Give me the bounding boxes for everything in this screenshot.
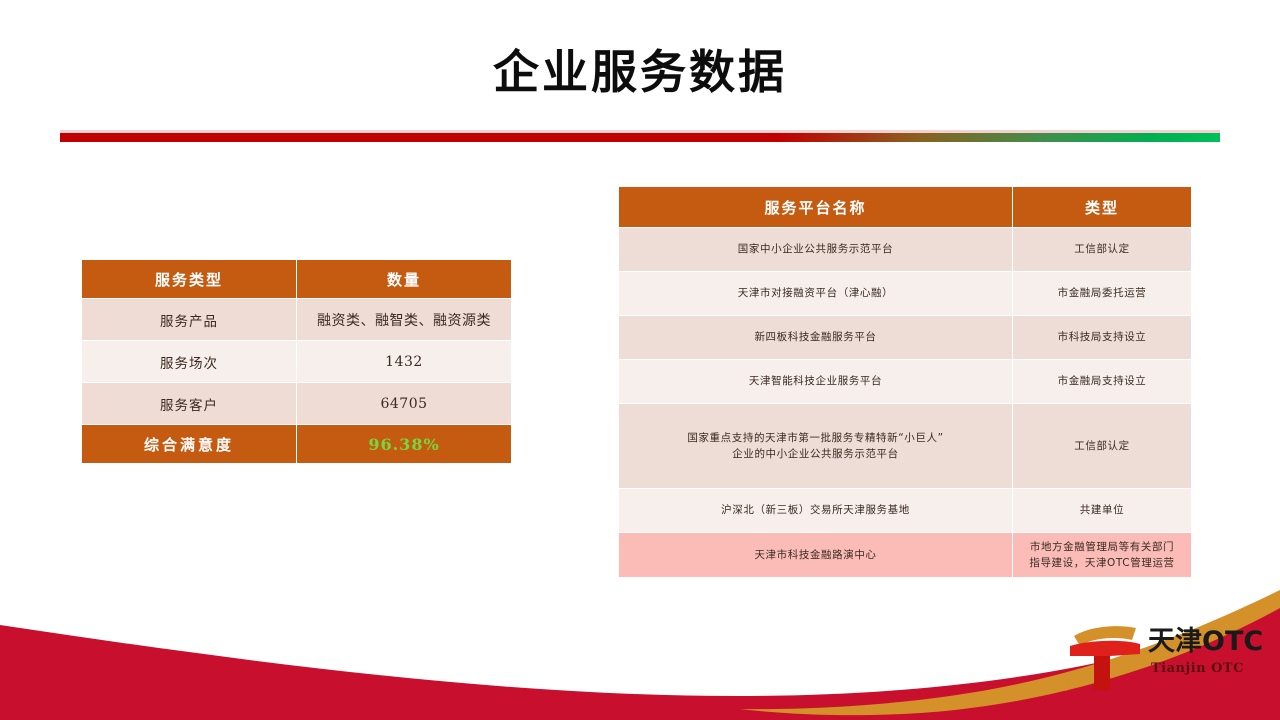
row-value-service-product: 融资类、融智类、融资源类: [297, 299, 512, 341]
table-row: 新四板科技金融服务平台 市科技局支持设立: [619, 316, 1192, 360]
row-value-service-sessions: 1432: [297, 341, 512, 383]
platform-name-4: 天津智能科技企业服务平台: [619, 360, 1013, 404]
platform-type-4: 市金融局支持设立: [1013, 360, 1192, 404]
platform-name-2: 天津市对接融资平台（津心融）: [619, 272, 1013, 316]
platform-type-1: 工信部认定: [1013, 228, 1192, 272]
table-header-row: 服务类型 数量: [82, 260, 512, 299]
platform-name-1: 国家中小企业公共服务示范平台: [619, 228, 1013, 272]
platform-type-2: 市金融局委托运营: [1013, 272, 1192, 316]
page-title: 企业服务数据: [0, 46, 1280, 99]
platform-type-3: 市科技局支持设立: [1013, 316, 1192, 360]
platform-type-6: 共建单位: [1013, 489, 1192, 533]
service-platform-table: 服务平台名称 类型 国家中小企业公共服务示范平台 工信部认定 天津市对接融资平台…: [618, 186, 1192, 578]
row-label-service-product: 服务产品: [82, 299, 297, 341]
left-col-header-type: 服务类型: [82, 260, 297, 299]
right-col-header-platform: 服务平台名称: [619, 187, 1013, 228]
table-row: 天津智能科技企业服务平台 市金融局支持设立: [619, 360, 1192, 404]
platform-name-3: 新四板科技金融服务平台: [619, 316, 1013, 360]
right-col-header-type: 类型: [1013, 187, 1192, 228]
table-row: 国家中小企业公共服务示范平台 工信部认定: [619, 228, 1192, 272]
table-total-row: 综合满意度 96.38%: [82, 425, 512, 464]
platform-name-5: 国家重点支持的天津市第一批服务专精特新“小巨人”企业的中小企业公共服务示范平台: [619, 404, 1013, 489]
table-row: 服务场次 1432: [82, 341, 512, 383]
row-label-service-customers: 服务客户: [82, 383, 297, 425]
left-col-header-count: 数量: [297, 260, 512, 299]
satisfaction-value: 96.38%: [297, 425, 512, 464]
platform-type-5: 工信部认定: [1013, 404, 1192, 489]
logo-name-cn: 天津OTC: [1148, 628, 1263, 655]
platform-name-6: 沪深北（新三板）交易所天津服务基地: [619, 489, 1013, 533]
row-value-service-customers: 64705: [297, 383, 512, 425]
table-row: 服务产品 融资类、融智类、融资源类: [82, 299, 512, 341]
table-row: 国家重点支持的天津市第一批服务专精特新“小巨人”企业的中小企业公共服务示范平台 …: [619, 404, 1192, 489]
satisfaction-label: 综合满意度: [82, 425, 297, 464]
table-row: 服务客户 64705: [82, 383, 512, 425]
table-row: 沪深北（新三板）交易所天津服务基地 共建单位: [619, 489, 1192, 533]
logo-name-en: Tianjin OTC: [1151, 662, 1244, 675]
table-header-row: 服务平台名称 类型: [619, 187, 1192, 228]
title-divider-bar: [60, 133, 1220, 142]
row-label-service-sessions: 服务场次: [82, 341, 297, 383]
slide-canvas: 企业服务数据 服务类型 数量 服务产品 融资类、融智类、融资源类 服务场次 14…: [0, 0, 1280, 720]
service-summary-table: 服务类型 数量 服务产品 融资类、融智类、融资源类 服务场次 1432 服务客户…: [81, 259, 512, 464]
table-row: 天津市对接融资平台（津心融） 市金融局委托运营: [619, 272, 1192, 316]
